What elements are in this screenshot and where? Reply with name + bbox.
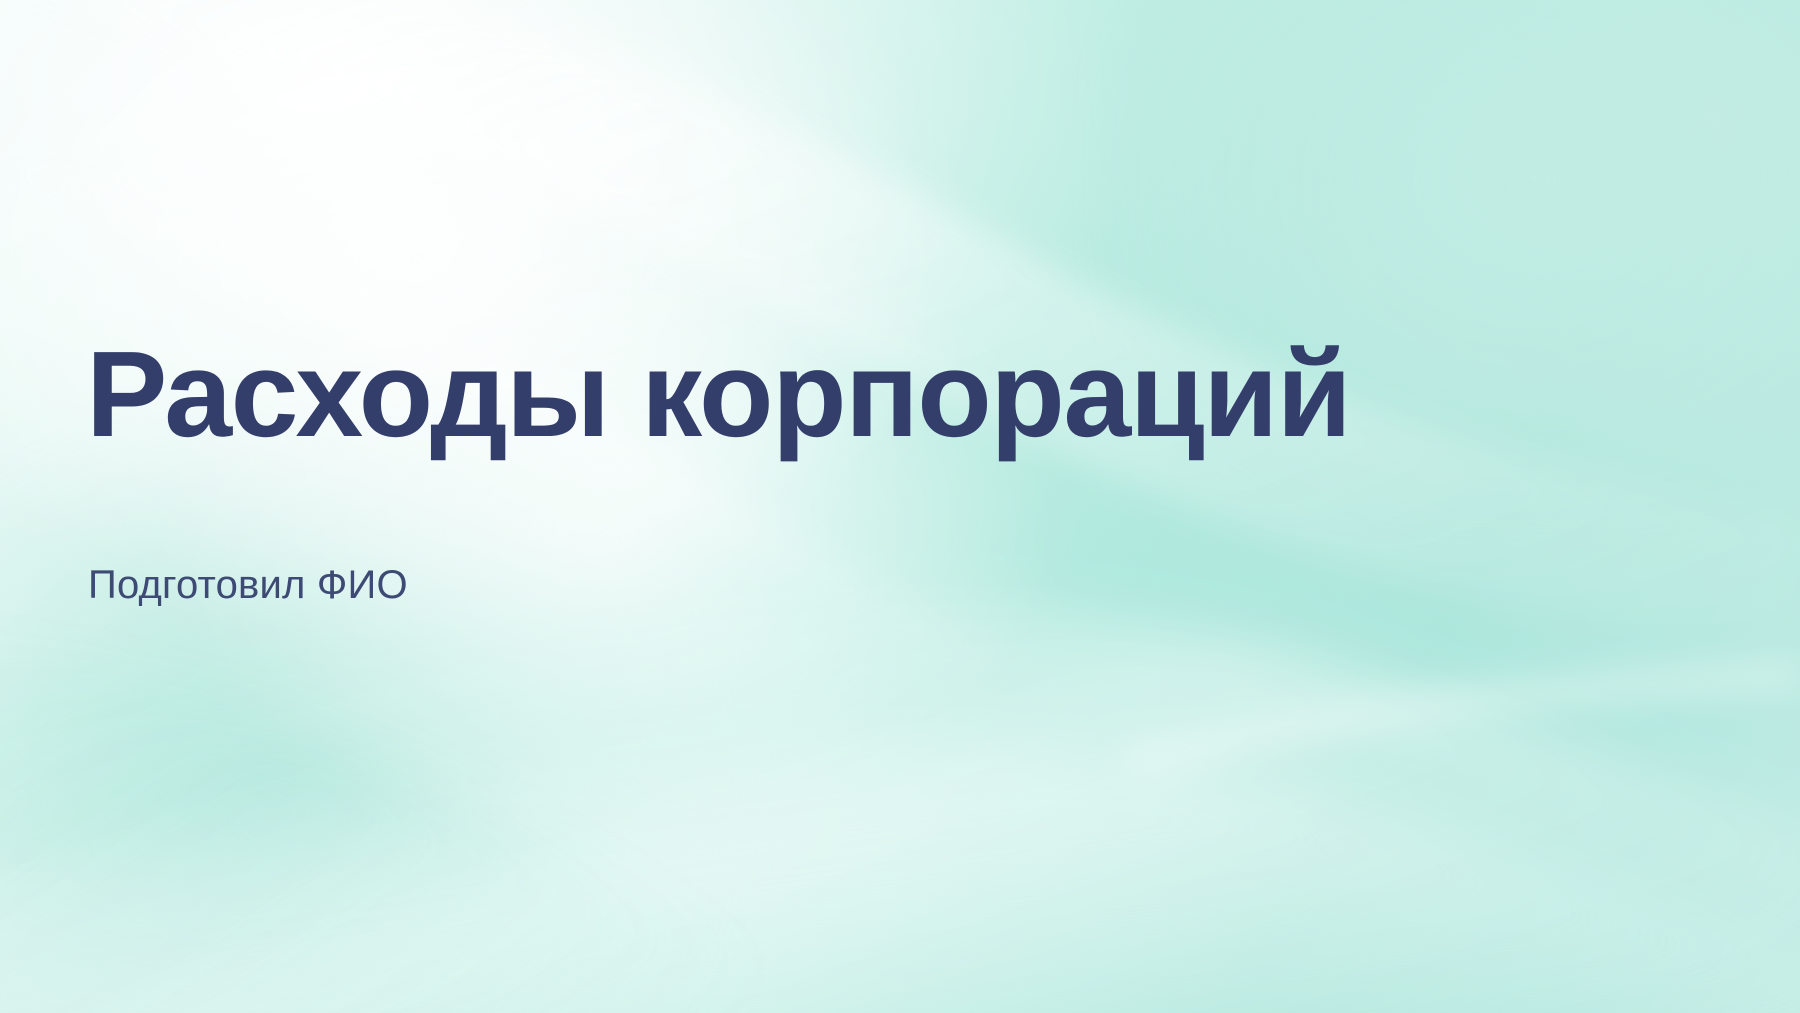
page-title: Расходы корпораций [86, 330, 1350, 459]
slide-subtitle: Подготовил ФИО [88, 560, 408, 610]
slide-text-block: Расходы корпораций Подготовил ФИО [86, 0, 1586, 1013]
title-slide: Расходы корпораций Подготовил ФИО [0, 0, 1800, 1013]
